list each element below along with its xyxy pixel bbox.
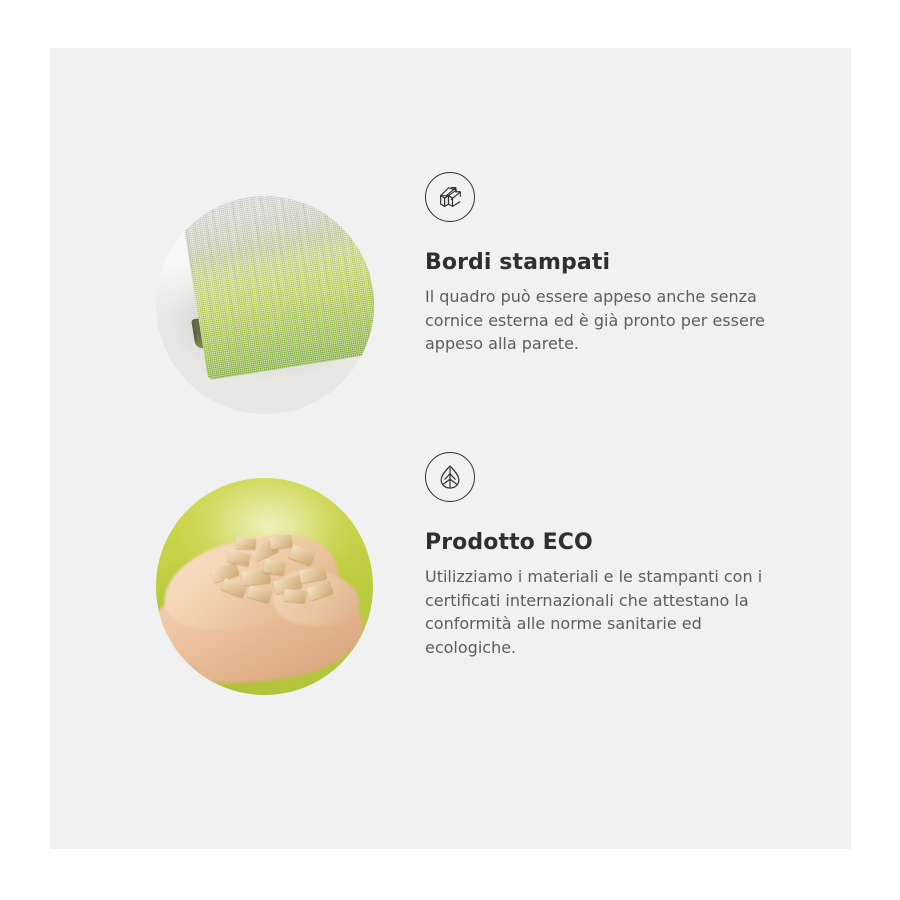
feature-description: Il quadro può essere appeso anche senza … <box>425 285 795 356</box>
feature-title: Prodotto ECO <box>425 530 825 556</box>
wrapped-canvas-edge-icon <box>425 172 475 222</box>
content-panel: Bordi stampati Il quadro può essere appe… <box>50 48 851 849</box>
feature-eco-product-text: Prodotto ECO Utilizziamo i materiali e l… <box>425 452 825 659</box>
canvas-printed-face <box>175 196 374 380</box>
wood-chips-group <box>208 536 336 610</box>
infographic-page: Bordi stampati Il quadro può essere appe… <box>0 0 900 900</box>
feature-description: Utilizziamo i materiali e le stampanti c… <box>425 565 795 659</box>
feature-printed-edges-text: Bordi stampati Il quadro può essere appe… <box>425 172 825 356</box>
leaf-icon <box>425 452 475 502</box>
eco-photo-backdrop <box>156 478 373 695</box>
feature-title: Bordi stampati <box>425 250 825 276</box>
feature-eco-product: Prodotto ECO Utilizziamo i materiali e l… <box>50 430 851 700</box>
canvas-photo-backdrop <box>156 196 374 414</box>
canvas-corner-photo <box>156 196 374 414</box>
feature-printed-edges: Bordi stampati Il quadro può essere appe… <box>50 148 851 418</box>
wood-chips-in-hands-photo <box>156 478 373 695</box>
